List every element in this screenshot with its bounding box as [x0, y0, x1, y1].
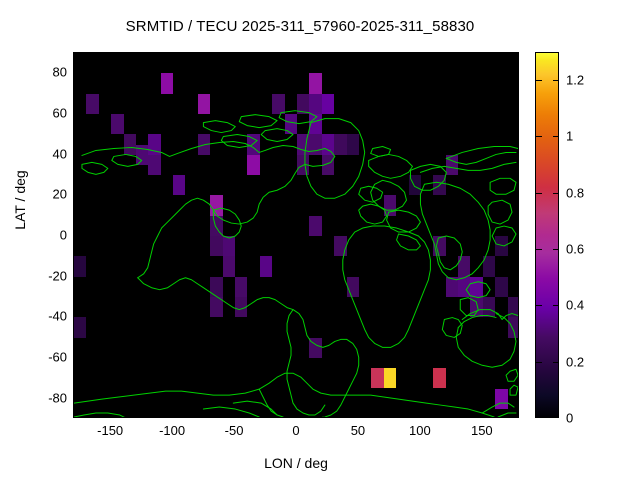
colorbar-tick-mark: [553, 136, 559, 137]
colorbar-tick-label: 0.8: [566, 186, 584, 199]
colorbar-tick-mark: [536, 249, 542, 250]
colorbar-tick-label: 0.2: [566, 355, 584, 368]
colorbar-tick-label: 0: [566, 412, 573, 425]
colorbar-tick-mark: [553, 249, 559, 250]
plot-canvas: SRMTID / TECU 2025-311_57960-2025-311_58…: [0, 0, 640, 480]
colorbar-tick-label: 1: [566, 130, 573, 143]
colorbar-tick-mark: [553, 362, 559, 363]
colorbar-tick-mark: [536, 80, 542, 81]
colorbar-tick-label: 0.6: [566, 243, 584, 256]
colorbar-tick-mark: [553, 305, 559, 306]
colorbar-tick-label: 0.4: [566, 299, 584, 312]
colorbar-tick-mark: [553, 80, 559, 81]
colorbar-tick-label: 1.2: [566, 74, 584, 87]
colorbar-tick-mark: [536, 136, 542, 137]
colorbar-tick-mark: [536, 305, 542, 306]
colorbar-tick-mark: [536, 362, 542, 363]
colorbar-tick-mark: [553, 193, 559, 194]
colorbar-tick-mark: [536, 193, 542, 194]
colorbar-ticks: 1.210.80.60.40.20: [0, 0, 640, 480]
